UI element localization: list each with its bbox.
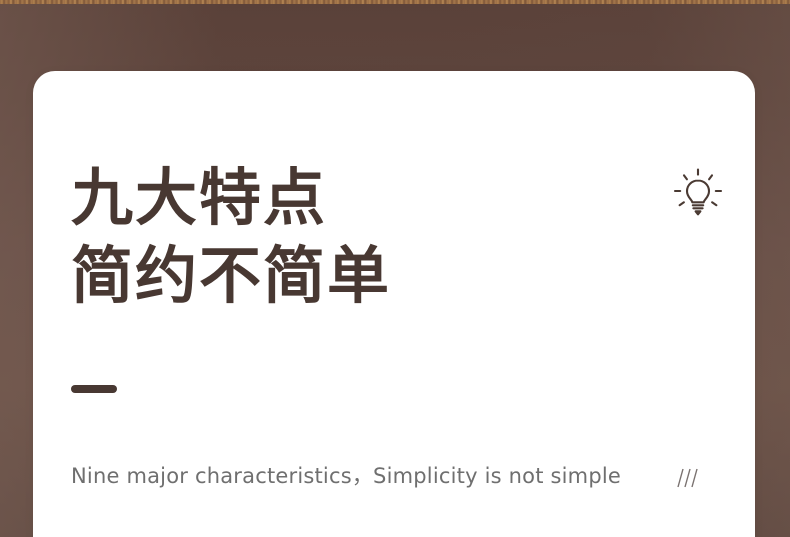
page-title-line-1: 九大特点 [71,159,391,237]
poster-page: 九大特点 简约不简单 Nine major characteristics，Si… [0,0,790,537]
page-title-line-2: 简约不简单 [71,237,391,315]
triple-slash-icon [672,467,700,489]
lightbulb-icon [670,166,726,222]
wood-grain-strip [0,0,790,4]
page-subtitle: Nine major characteristics，Simplicity is… [71,462,621,490]
page-title: 九大特点 简约不简单 [71,159,391,315]
title-divider-rule [71,385,117,393]
content-card: 九大特点 简约不简单 Nine major characteristics，Si… [33,71,755,537]
